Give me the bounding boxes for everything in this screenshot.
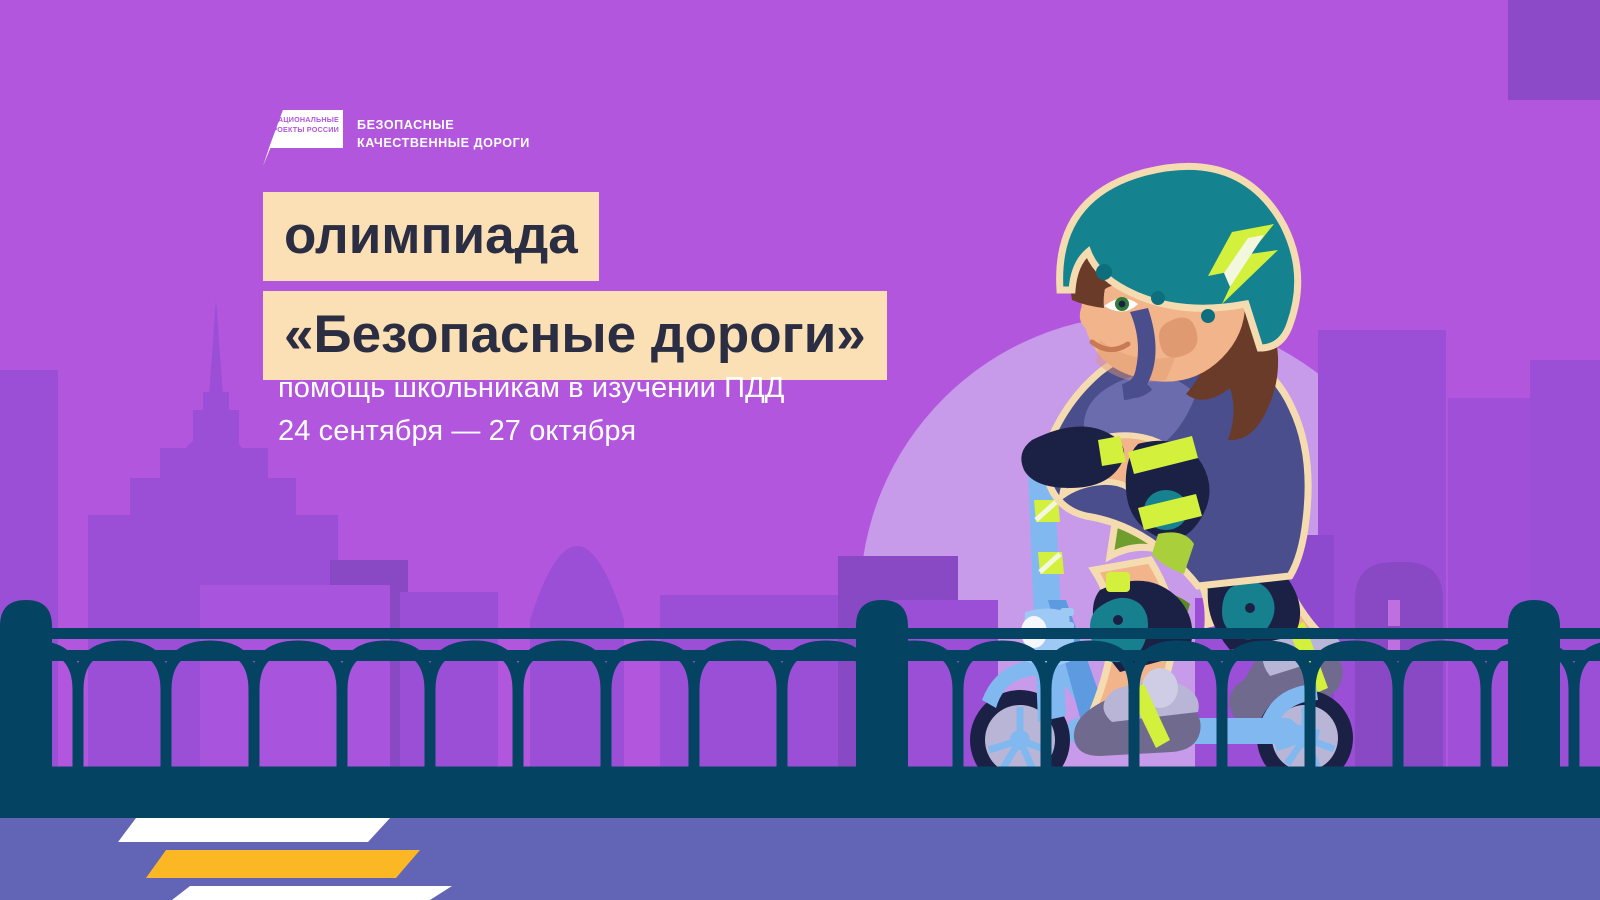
corner-accent-block	[1508, 0, 1600, 100]
railing-rail-top	[0, 628, 1600, 639]
helmet-vent-2	[1151, 291, 1165, 305]
headline-block: олимпиада «Безопасные дороги»	[263, 192, 887, 380]
crosswalk-stripe-white-1	[118, 818, 390, 842]
illustration-artwork	[0, 0, 1600, 900]
building-pale	[200, 585, 390, 772]
building-b	[400, 592, 498, 772]
national-projects-flag-icon: НАЦИОНАЛЬНЫЕ ПРОЕКТЫ РОССИИ	[263, 110, 343, 166]
subtitle-text: помощь школьникам в изучении ПДД 24 сент…	[278, 367, 785, 453]
program-title: БЕЗОПАСНЫЕ КАЧЕСТВЕННЫЕ ДОРОГИ	[357, 110, 530, 153]
window-dot-1	[1388, 600, 1400, 626]
headline-line-1: олимпиада	[263, 192, 599, 281]
brand-lockup: НАЦИОНАЛЬНЫЕ ПРОЕКТЫ РОССИИ БЕЗОПАСНЫЕ К…	[263, 110, 530, 166]
crosswalk-stripe-yellow	[146, 850, 420, 878]
banner-canvas: НАЦИОНАЛЬНЫЕ ПРОЕКТЫ РОССИИ БЕЗОПАСНЫЕ К…	[0, 0, 1600, 900]
crosswalk-stripe-white-2	[172, 886, 452, 900]
road-deck	[0, 772, 1600, 818]
helmet-vent-1	[1096, 264, 1112, 280]
flag-text: НАЦИОНАЛЬНЫЕ ПРОЕКТЫ РОССИИ	[263, 115, 339, 134]
helmet-vent-3	[1201, 309, 1215, 323]
railing-rail-mid	[0, 650, 1600, 661]
building-c	[660, 595, 838, 772]
